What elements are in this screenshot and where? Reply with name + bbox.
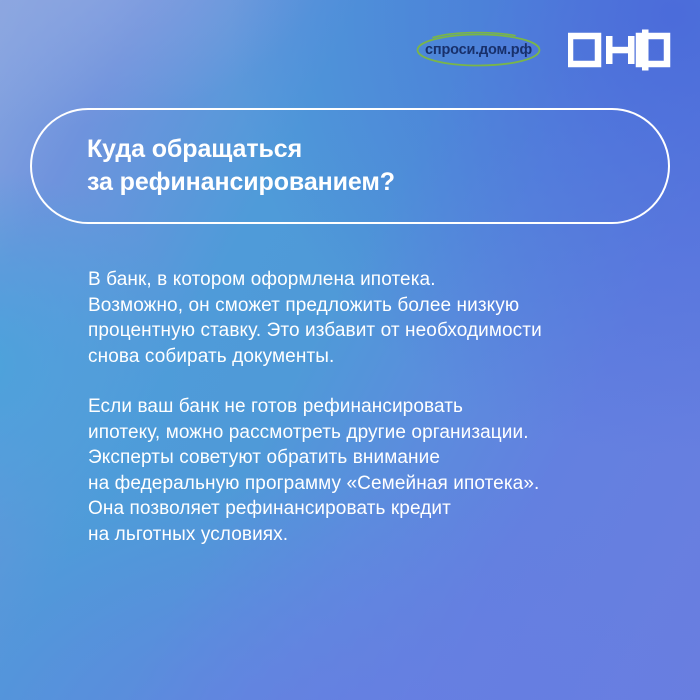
sprosi-dom-rf-label: спроси.дом.рф	[425, 43, 532, 58]
sprosi-dom-rf-logo: спроси.дом.рф	[415, 28, 542, 72]
body-paragraph-1: В банк, в котором оформлена ипотека. Воз…	[88, 267, 653, 369]
onf-wordmark-icon	[568, 29, 672, 71]
title-pill: Куда обращаться за рефинансированием?	[30, 108, 670, 224]
logo-bar: спроси.дом.рф	[415, 26, 672, 74]
onf-logo	[568, 29, 672, 71]
body-paragraph-2: Если ваш банк не готов рефинансировать и…	[88, 394, 653, 547]
slide-card: спроси.дом.рф Куда обращаться за рефинан…	[0, 0, 700, 700]
page-title: Куда обращаться за рефинансированием?	[87, 133, 395, 199]
body-copy: В банк, в котором оформлена ипотека. Воз…	[88, 267, 653, 547]
